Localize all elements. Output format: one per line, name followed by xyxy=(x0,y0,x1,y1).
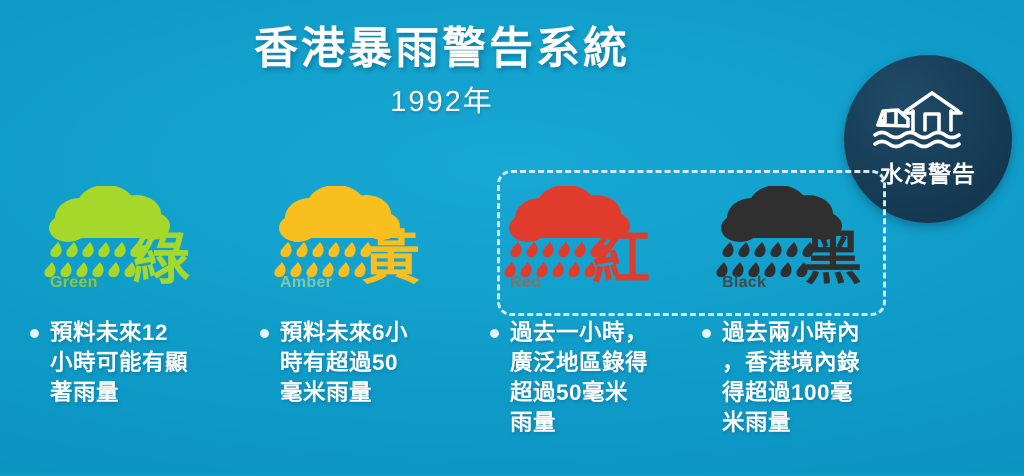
desc-line: 小時可能有顯 xyxy=(50,348,243,378)
warning-label-green: Green xyxy=(50,274,98,292)
desc-line: 米雨量 xyxy=(722,408,915,438)
warning-column-red: 紅 Red 過去一小時， 廣泛地區錄得 超過50毫米 雨量 xyxy=(488,186,703,438)
warning-sign-amber: 黃 Amber xyxy=(258,186,473,304)
warning-desc-amber: 預料未來6小 時有超過50 毫米雨量 xyxy=(258,318,473,408)
warning-desc-red: 過去一小時， 廣泛地區錄得 超過50毫米 雨量 xyxy=(488,318,703,438)
desc-line: 雨量 xyxy=(510,408,703,438)
warning-sign-red: 紅 Red xyxy=(488,186,703,304)
warning-desc-black: 過去兩小時內 ，香港境內錄 得超過100毫 米雨量 xyxy=(700,318,915,438)
warning-char-black: 黑 xyxy=(804,230,862,288)
desc-line: 得超過100毫 xyxy=(722,378,915,408)
warning-char-amber: 黃 xyxy=(362,230,420,288)
warning-char-green: 綠 xyxy=(132,230,190,288)
desc-line: 過去一小時， xyxy=(510,318,703,348)
warning-label-red: Red xyxy=(510,274,541,292)
warning-sign-green: 綠 Green xyxy=(28,186,243,304)
desc-line: 著雨量 xyxy=(50,378,243,408)
warning-sign-black: 黑 Black xyxy=(700,186,915,304)
desc-line: 廣泛地區錄得 xyxy=(510,348,703,378)
warning-label-black: Black xyxy=(722,274,766,292)
warning-char-red: 紅 xyxy=(592,230,650,288)
desc-line: 時有超過50 xyxy=(280,348,473,378)
badge-label: 水浸警告 xyxy=(880,155,976,189)
desc-line: 預料未來6小 xyxy=(280,318,473,348)
warning-column-green: 綠 Green 預料未來12 小時可能有顯 著雨量 xyxy=(28,186,243,408)
desc-line: 超過50毫米 xyxy=(510,378,703,408)
warning-columns: 綠 Green 預料未來12 小時可能有顯 著雨量 xyxy=(0,186,1024,476)
flood-house-car-icon xyxy=(872,89,984,151)
desc-line: 毫米雨量 xyxy=(280,378,473,408)
page-title: 香港暴雨警告系統 xyxy=(0,26,1024,72)
warning-label-amber: Amber xyxy=(280,274,332,292)
desc-line: 過去兩小時內 xyxy=(722,318,915,348)
desc-line: 預料未來12 xyxy=(50,318,243,348)
warning-column-amber: 黃 Amber 預料未來6小 時有超過50 毫米雨量 xyxy=(258,186,473,408)
warning-desc-green: 預料未來12 小時可能有顯 著雨量 xyxy=(28,318,243,408)
warning-column-black: 黑 Black 過去兩小時內 ，香港境內錄 得超過100毫 米雨量 xyxy=(700,186,915,438)
desc-line: ，香港境內錄 xyxy=(722,348,915,378)
infographic-canvas: 香港暴雨警告系統 1992年 水浸警告 xyxy=(0,0,1024,474)
